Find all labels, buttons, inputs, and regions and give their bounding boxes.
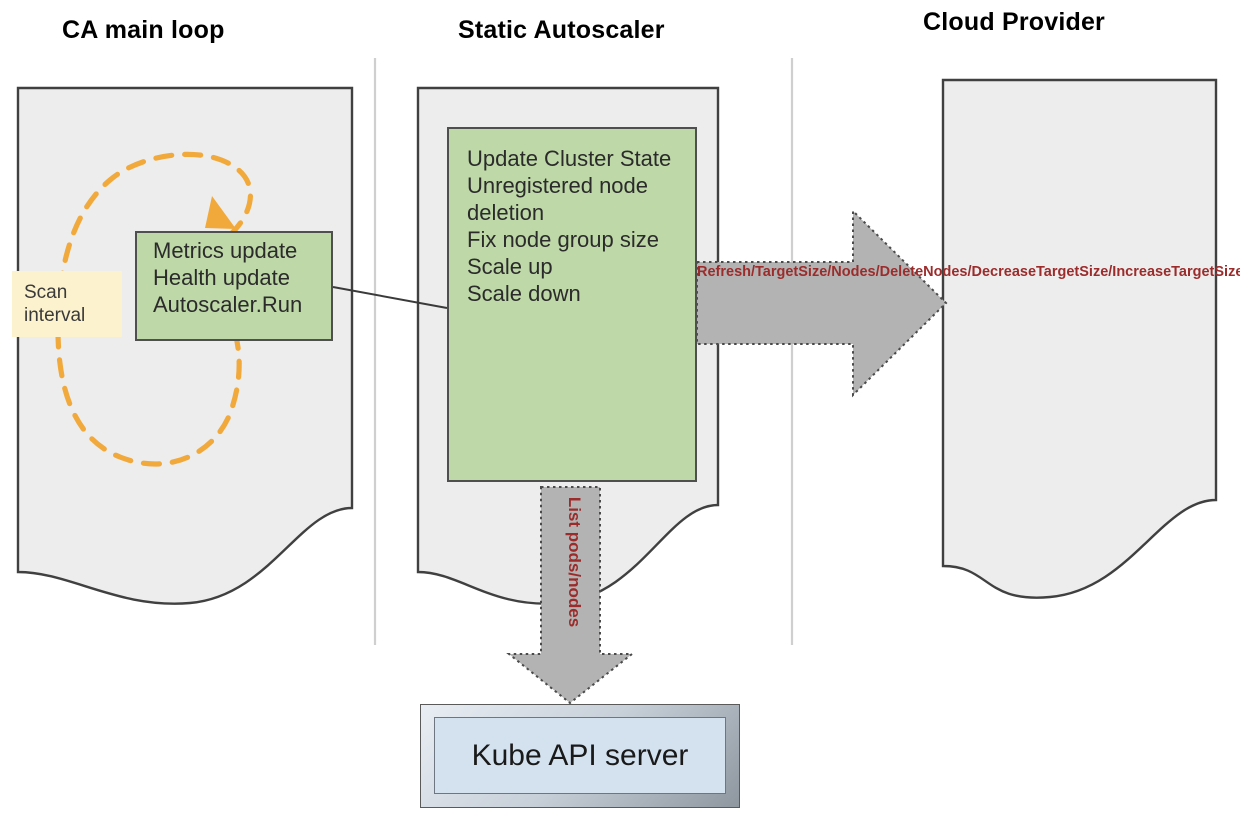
static-ops-line-3: deletion: [467, 199, 683, 226]
static-autoscaler-operations-box: Update Cluster State Unregistered node d…: [447, 127, 697, 482]
kube-api-server-box: Kube API server: [420, 704, 740, 808]
static-ops-line-4: Fix node group size: [467, 226, 683, 253]
diagram-canvas: CA main loop Static Autoscaler Cloud Pro…: [0, 0, 1240, 838]
static-ops-line-2: Unregistered node: [467, 172, 683, 199]
scan-interval-label: Scan interval: [12, 271, 122, 337]
kube-api-call-arrow-label: List pods/nodes: [564, 477, 584, 647]
lane-title-cloud-provider: Cloud Provider: [923, 8, 1105, 37]
scan-interval-line-1: Scan: [24, 281, 122, 304]
metrics-box-line-1: Metrics update: [153, 237, 319, 264]
lane-shape-ca-main-loop: [18, 88, 352, 604]
lane-title-static-autoscaler: Static Autoscaler: [458, 16, 665, 45]
metrics-box-line-3: Autoscaler.Run: [153, 291, 319, 318]
kube-api-server-label: Kube API server: [472, 739, 689, 773]
kube-api-server-face: Kube API server: [434, 717, 726, 794]
lane-title-ca-main-loop: CA main loop: [62, 16, 225, 45]
lane-shape-cloud-provider: [943, 80, 1216, 598]
static-ops-line-1: Update Cluster State: [467, 145, 683, 172]
static-ops-line-6: Scale down: [467, 280, 683, 307]
metrics-update-box: Metrics update Health update Autoscaler.…: [135, 231, 333, 341]
cloud-provider-call-arrow-label: Refresh/TargetSize/Nodes/DeleteNodes/Dec…: [697, 264, 897, 281]
scan-interval-line-2: interval: [24, 304, 122, 327]
static-ops-line-5: Scale up: [467, 253, 683, 280]
metrics-box-line-2: Health update: [153, 264, 319, 291]
cloud-provider-call-arrow: [697, 211, 946, 395]
